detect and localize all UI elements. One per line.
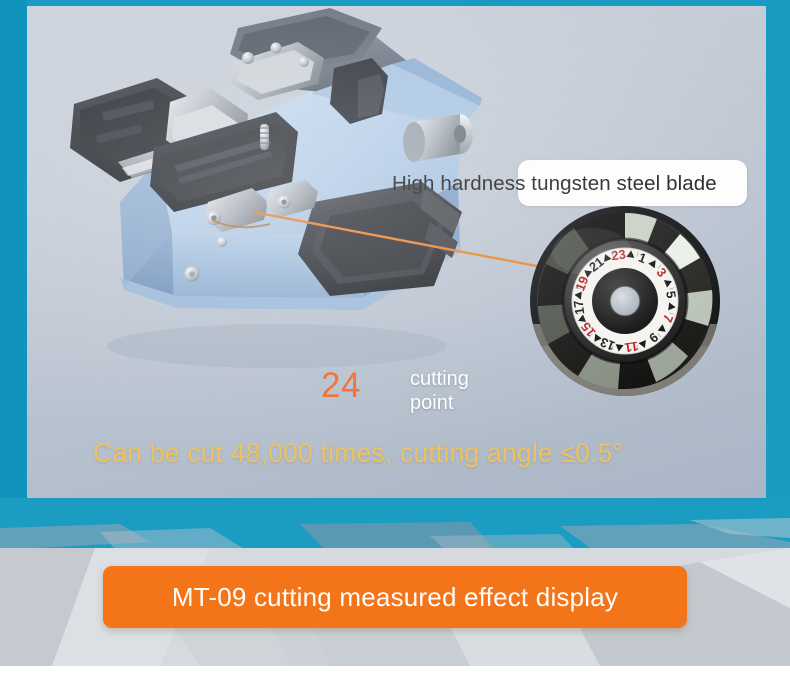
svg-text:3: 3 xyxy=(654,265,670,280)
cutting-point-label-line1: cutting xyxy=(410,368,469,392)
callout-label: High hardness tungsten steel blade xyxy=(392,172,766,196)
cutting-point-count: 24 xyxy=(321,368,361,403)
fiber-cleaver-device xyxy=(62,6,482,376)
callout-pill-background xyxy=(518,160,747,206)
svg-text:23: 23 xyxy=(610,247,626,264)
svg-text:5: 5 xyxy=(663,290,679,299)
svg-text:1: 1 xyxy=(636,250,648,267)
banner-label: MT-09 cutting measured effect display xyxy=(103,566,687,628)
headline-text: Can be cut 48,000 times, cutting angle ≤… xyxy=(93,440,623,467)
frame-right-bar xyxy=(766,0,790,555)
bottom-white-margin xyxy=(0,666,790,693)
frame-left-bar xyxy=(0,0,27,555)
svg-text:21: 21 xyxy=(586,254,607,275)
svg-text:11: 11 xyxy=(624,339,640,356)
svg-text:7: 7 xyxy=(660,312,677,324)
svg-text:19: 19 xyxy=(572,274,591,293)
svg-text:9: 9 xyxy=(646,330,661,346)
cutting-point-label-line2: point xyxy=(410,392,469,416)
teal-divider-band xyxy=(0,498,790,555)
product-photo: High hardness tungsten steel blade xyxy=(27,6,766,498)
svg-text:17: 17 xyxy=(571,299,588,315)
svg-text:13: 13 xyxy=(598,334,617,353)
pointer-line xyxy=(27,6,766,498)
svg-text:15: 15 xyxy=(578,319,599,340)
product-marketing-image: High hardness tungsten steel blade xyxy=(0,0,790,693)
rotary-blade-dial: 1 3 5 7 9 11 13 15 17 19 21 23 xyxy=(530,206,720,396)
cutting-point-label: cutting point xyxy=(410,368,469,415)
